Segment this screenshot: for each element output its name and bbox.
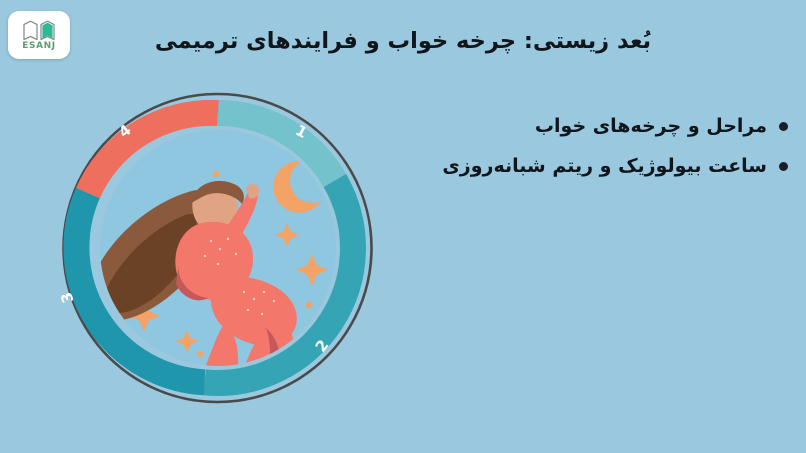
- bullet-dot-icon: [779, 122, 788, 131]
- sleep-cycle-illustration: 1 2 3 4: [48, 78, 388, 418]
- esanj-logo[interactable]: ESANJ: [8, 11, 70, 59]
- slide-canvas: ESANJ بُعد زیستی: چرخه خواب و فرایندهای …: [0, 0, 806, 453]
- logo-wordmark: ESANJ: [22, 42, 55, 51]
- bullet-dot-icon: [779, 162, 788, 171]
- open-book-icon: [22, 20, 56, 41]
- bullet-list: مراحل و چرخه‌های خواب ساعت بیولوژیک و ری…: [378, 114, 788, 193]
- page-title: بُعد زیستی: چرخه خواب و فرایندهای ترمیمی: [120, 28, 686, 54]
- bullet-item-label: مراحل و چرخه‌های خواب: [535, 114, 767, 140]
- bullet-item-label: ساعت بیولوژیک و ریتم شبانه‌روزی: [442, 154, 767, 180]
- list-item: ساعت بیولوژیک و ریتم شبانه‌روزی: [378, 154, 788, 180]
- list-item: مراحل و چرخه‌های خواب: [378, 114, 788, 140]
